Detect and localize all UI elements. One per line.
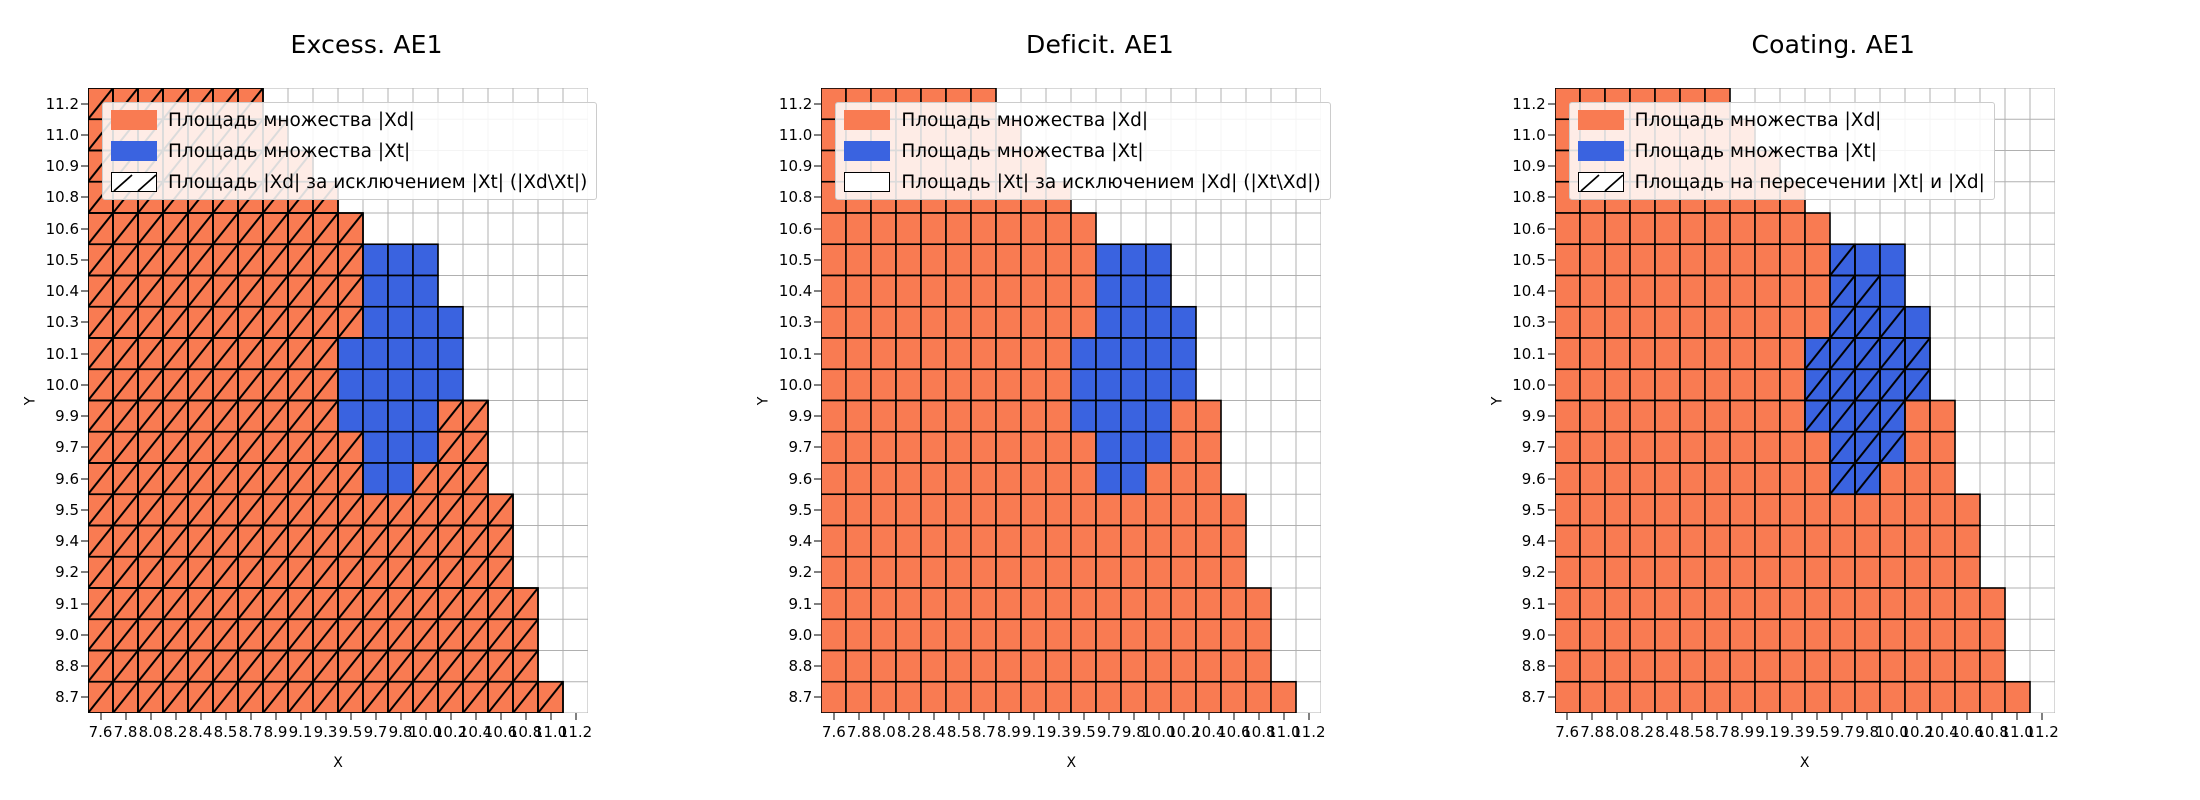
grid-cell xyxy=(1630,369,1655,400)
grid-cell xyxy=(1046,588,1071,619)
grid-cell-hatch xyxy=(213,244,238,275)
grid-cell xyxy=(1630,557,1655,588)
grid-cell xyxy=(1196,588,1221,619)
grid-cell xyxy=(896,651,921,682)
grid-cell-hatch xyxy=(138,338,163,369)
y-tick-label: 11.2 xyxy=(779,95,812,113)
grid-cell-hatch xyxy=(88,307,113,338)
grid-cell-hatch xyxy=(338,307,363,338)
grid-cell xyxy=(388,276,413,307)
grid-cell-hatch xyxy=(88,276,113,307)
grid-cell xyxy=(363,276,388,307)
legend-swatch-hatch xyxy=(1578,172,1624,192)
grid-cell xyxy=(438,369,463,400)
x-tick-mark xyxy=(1667,713,1668,720)
x-tick-mark xyxy=(1942,713,1943,720)
grid-cell xyxy=(821,588,846,619)
plot-area: 11.211.010.910.810.610.510.410.310.110.0… xyxy=(88,88,588,713)
grid-cell xyxy=(1730,307,1755,338)
grid-cell xyxy=(821,244,846,275)
legend-item[interactable]: Площадь множества |Xt| xyxy=(111,141,587,161)
grid-cell-hatch xyxy=(363,557,388,588)
x-tick-label: 8.0 xyxy=(1605,723,1629,741)
grid-cell xyxy=(971,463,996,494)
grid-cell xyxy=(1755,526,1780,557)
grid-cell-hatch xyxy=(88,244,113,275)
x-axis-label: X xyxy=(821,755,1321,771)
grid-cell xyxy=(1096,307,1121,338)
grid-cell xyxy=(1930,526,1955,557)
y-tick-mark xyxy=(814,228,821,229)
grid-cell xyxy=(1930,432,1955,463)
grid-cell xyxy=(871,369,896,400)
grid-cell xyxy=(1555,307,1580,338)
grid-cell xyxy=(1930,588,1955,619)
y-tick-label: 10.4 xyxy=(46,282,79,300)
grid-cell xyxy=(1046,494,1071,525)
x-tick-mark xyxy=(1917,713,1918,720)
x-tick-mark xyxy=(150,713,151,720)
grid-cell xyxy=(896,244,921,275)
grid-cell xyxy=(1730,244,1755,275)
y-tick-label: 9.2 xyxy=(788,563,812,581)
legend-item[interactable]: Площадь множества |Xd| xyxy=(844,110,1320,130)
grid-cell-hatch xyxy=(213,276,238,307)
y-tick-mark xyxy=(81,416,88,417)
x-tick-label: 8.9 xyxy=(997,723,1021,741)
grid-cell xyxy=(1630,276,1655,307)
y-tick-mark xyxy=(1548,634,1555,635)
y-tick-mark xyxy=(81,103,88,104)
x-axis-label: X xyxy=(1555,755,2055,771)
x-tick-mark xyxy=(325,713,326,720)
grid-cell xyxy=(1096,338,1121,369)
y-tick-label: 10.1 xyxy=(46,345,79,363)
grid-cell xyxy=(1630,244,1655,275)
grid-cell-hatch xyxy=(263,494,288,525)
grid-cell-hatch xyxy=(188,494,213,525)
grid-cell-hatch xyxy=(463,494,488,525)
grid-cell-hatch xyxy=(488,557,513,588)
grid-cell xyxy=(1046,682,1071,713)
grid-cell-hatch xyxy=(263,463,288,494)
grid-cell-hatch xyxy=(188,401,213,432)
x-tick-mark xyxy=(200,713,201,720)
x-tick-label: 7.8 xyxy=(847,723,871,741)
grid-cell xyxy=(1680,682,1705,713)
y-tick-label: 11.0 xyxy=(46,126,79,144)
grid-cell xyxy=(871,682,896,713)
grid-cell xyxy=(1705,494,1730,525)
grid-cell xyxy=(1680,557,1705,588)
grid-cell xyxy=(996,307,1021,338)
grid-cell xyxy=(921,307,946,338)
grid-cell xyxy=(996,369,1021,400)
grid-cell xyxy=(1630,588,1655,619)
grid-cell-hatch xyxy=(213,619,238,650)
y-tick-mark xyxy=(81,447,88,448)
grid-cell-hatch xyxy=(213,307,238,338)
grid-cell xyxy=(1580,619,1605,650)
grid-cell xyxy=(1730,588,1755,619)
grid-cell xyxy=(1021,369,1046,400)
grid-cell-hatch xyxy=(138,588,163,619)
x-tick-label: 8.0 xyxy=(139,723,163,741)
x-tick-label: 9.5 xyxy=(1805,723,1829,741)
legend-label: Площадь множества |Xd| xyxy=(1635,110,1882,131)
legend-item[interactable]: Площадь |Xt| за исключением |Xd| (|Xt\Xd… xyxy=(844,172,1320,192)
grid-cell xyxy=(1171,463,1196,494)
grid-cell-hatch xyxy=(438,557,463,588)
grid-cell xyxy=(1780,338,1805,369)
grid-cell-hatch xyxy=(263,276,288,307)
grid-cell-hatch xyxy=(1830,276,1855,307)
y-tick-label: 9.5 xyxy=(55,501,79,519)
grid-cell xyxy=(1705,619,1730,650)
grid-cell xyxy=(1880,557,1905,588)
grid-cell-hatch xyxy=(288,588,313,619)
grid-cell-hatch xyxy=(1855,338,1880,369)
grid-cell xyxy=(388,463,413,494)
grid-cell xyxy=(1755,557,1780,588)
x-tick-mark xyxy=(225,713,226,720)
grid-cell-hatch xyxy=(288,557,313,588)
grid-cell xyxy=(363,401,388,432)
legend-item[interactable]: Площадь на пересечении |Xt| и |Xd| xyxy=(1578,172,1985,192)
grid-cell xyxy=(1146,651,1171,682)
grid-cell xyxy=(946,526,971,557)
grid-cell xyxy=(846,213,871,244)
x-tick-mark xyxy=(833,713,834,720)
legend-item[interactable]: Площадь множества |Xd| xyxy=(1578,110,1985,130)
grid-cell xyxy=(1880,588,1905,619)
grid-cell xyxy=(1605,682,1630,713)
grid-cell xyxy=(996,213,1021,244)
grid-cell-hatch xyxy=(213,588,238,619)
grid-cell xyxy=(1021,619,1046,650)
grid-cell xyxy=(1705,432,1730,463)
grid-cell-hatch xyxy=(213,338,238,369)
grid-cell xyxy=(1805,494,1830,525)
y-tick-mark xyxy=(814,478,821,479)
grid-cell-hatch xyxy=(163,213,188,244)
grid-cell xyxy=(946,213,971,244)
grid-cell-hatch xyxy=(188,369,213,400)
grid-cell xyxy=(1096,369,1121,400)
legend: Площадь множества |Xd|Площадь множества … xyxy=(835,102,1330,200)
grid-cell xyxy=(1705,526,1730,557)
grid-cell xyxy=(1046,338,1071,369)
y-tick-mark xyxy=(1548,572,1555,573)
grid-cell-hatch xyxy=(288,276,313,307)
grid-cell-hatch xyxy=(1830,401,1855,432)
grid-cell xyxy=(821,494,846,525)
y-tick-label: 9.4 xyxy=(788,532,812,550)
y-tick-mark xyxy=(81,322,88,323)
grid-cell-hatch xyxy=(363,526,388,557)
grid-cell xyxy=(1930,557,1955,588)
y-tick-label: 9.7 xyxy=(55,438,79,456)
grid-cell xyxy=(1780,651,1805,682)
grid-cell-hatch xyxy=(238,432,263,463)
x-tick-label: 9.3 xyxy=(1780,723,1804,741)
grid-cell xyxy=(1755,401,1780,432)
y-tick-label: 9.6 xyxy=(1522,470,1546,488)
y-tick-label: 10.9 xyxy=(46,157,79,175)
grid-cell xyxy=(1855,651,1880,682)
x-tick-label: 8.2 xyxy=(897,723,921,741)
grid-cell xyxy=(1605,338,1630,369)
x-tick-mark xyxy=(1158,713,1159,720)
grid-cell-hatch xyxy=(363,682,388,713)
grid-cell xyxy=(1555,369,1580,400)
grid-cell xyxy=(846,307,871,338)
x-tick-mark xyxy=(1233,713,1234,720)
grid-cell xyxy=(871,307,896,338)
grid-cell xyxy=(1855,619,1880,650)
grid-cell xyxy=(871,557,896,588)
grid-cell xyxy=(1071,369,1096,400)
grid-cell-hatch xyxy=(463,588,488,619)
grid-cell xyxy=(996,619,1021,650)
grid-cell xyxy=(921,619,946,650)
grid-cell-hatch xyxy=(163,557,188,588)
grid-cell xyxy=(1655,401,1680,432)
grid-cell-hatch xyxy=(113,244,138,275)
grid-cell xyxy=(1555,338,1580,369)
x-tick-mark xyxy=(400,713,401,720)
grid-cell-hatch xyxy=(1905,369,1930,400)
y-tick-mark xyxy=(1548,134,1555,135)
grid-cell xyxy=(846,276,871,307)
grid-cell xyxy=(1730,494,1755,525)
y-tick-label: 8.7 xyxy=(1522,688,1546,706)
y-tick-label: 10.3 xyxy=(1512,313,1545,331)
grid-cell xyxy=(946,651,971,682)
grid-cell-hatch xyxy=(488,526,513,557)
grid-cell xyxy=(921,401,946,432)
grid-cell xyxy=(1730,338,1755,369)
grid-cell xyxy=(1605,557,1630,588)
legend-label: Площадь множества |Xt| xyxy=(168,141,410,162)
grid-cell xyxy=(1021,432,1046,463)
grid-cell-hatch xyxy=(413,588,438,619)
legend-item[interactable]: Площадь |Xd| за исключением |Xt| (|Xd\Xt… xyxy=(111,172,587,192)
y-tick-mark xyxy=(814,166,821,167)
grid-cell-hatch xyxy=(88,401,113,432)
grid-cell xyxy=(971,369,996,400)
grid-cell-hatch xyxy=(313,338,338,369)
grid-cell xyxy=(338,338,363,369)
legend-item[interactable]: Площадь множества |Xd| xyxy=(111,110,587,130)
grid-cell xyxy=(996,682,1021,713)
grid-cell-hatch xyxy=(413,463,438,494)
grid-cell-hatch xyxy=(163,651,188,682)
grid-cell xyxy=(1021,682,1046,713)
grid-cell-hatch xyxy=(438,651,463,682)
grid-cell xyxy=(1196,401,1221,432)
grid-cell-hatch xyxy=(213,213,238,244)
grid-cell-hatch xyxy=(438,463,463,494)
y-tick-label: 10.4 xyxy=(1512,282,1545,300)
grid-cell xyxy=(1905,463,1930,494)
panel-title: Excess. AE1 xyxy=(0,30,733,59)
grid-cell xyxy=(438,307,463,338)
x-tick-mark xyxy=(1592,713,1593,720)
grid-cell xyxy=(363,369,388,400)
grid-cell xyxy=(971,244,996,275)
grid-cell xyxy=(946,276,971,307)
y-tick-label: 9.4 xyxy=(55,532,79,550)
grid-cell-hatch xyxy=(188,213,213,244)
grid-cell xyxy=(1730,682,1755,713)
y-tick-label: 9.1 xyxy=(1522,595,1546,613)
grid-cell-hatch xyxy=(238,494,263,525)
grid-cell xyxy=(1705,338,1730,369)
x-tick-mark xyxy=(1133,713,1134,720)
grid-cell-hatch xyxy=(488,682,513,713)
x-tick-mark xyxy=(575,713,576,720)
grid-cell xyxy=(1930,682,1955,713)
y-tick-label: 10.5 xyxy=(779,251,812,269)
x-tick-mark xyxy=(958,713,959,720)
y-tick-label: 11.2 xyxy=(46,95,79,113)
grid-cell xyxy=(1096,276,1121,307)
x-tick-mark xyxy=(450,713,451,720)
grid-cell-hatch xyxy=(513,682,538,713)
grid-cell-hatch xyxy=(1805,338,1830,369)
grid-cell xyxy=(971,338,996,369)
y-tick-mark xyxy=(1548,166,1555,167)
grid-cell-hatch xyxy=(413,619,438,650)
grid-cell-hatch xyxy=(1880,369,1905,400)
grid-cell-hatch xyxy=(538,682,563,713)
x-tick-mark xyxy=(1792,713,1793,720)
grid-cell xyxy=(946,619,971,650)
grid-cell xyxy=(871,432,896,463)
x-tick-mark xyxy=(300,713,301,720)
y-tick-label: 10.9 xyxy=(779,157,812,175)
y-tick-label: 10.8 xyxy=(46,188,79,206)
grid-cell-hatch xyxy=(1830,463,1855,494)
grid-cell-hatch xyxy=(263,682,288,713)
x-tick-mark xyxy=(525,713,526,720)
y-tick-mark xyxy=(81,197,88,198)
grid-cell xyxy=(1171,401,1196,432)
grid-cell xyxy=(1980,588,2005,619)
grid-cell xyxy=(1021,526,1046,557)
x-tick-mark xyxy=(858,713,859,720)
legend-item[interactable]: Площадь множества |Xt| xyxy=(1578,141,1985,161)
x-tick-label: 7.8 xyxy=(114,723,138,741)
grid-cell xyxy=(1580,557,1605,588)
grid-cell xyxy=(1171,619,1196,650)
grid-cell xyxy=(1655,213,1680,244)
x-tick-label: 8.2 xyxy=(164,723,188,741)
grid-cell-hatch xyxy=(288,307,313,338)
grid-cell-hatch xyxy=(163,432,188,463)
x-tick-mark xyxy=(1308,713,1309,720)
legend: Площадь множества |Xd|Площадь множества … xyxy=(1569,102,1995,200)
grid-cell-hatch xyxy=(138,401,163,432)
grid-cell xyxy=(1655,338,1680,369)
grid-cell-hatch xyxy=(238,682,263,713)
grid-cell xyxy=(1730,619,1755,650)
y-tick-label: 10.8 xyxy=(779,188,812,206)
grid-cell xyxy=(1630,401,1655,432)
grid-cell xyxy=(1905,588,1930,619)
grid-cell-hatch xyxy=(163,244,188,275)
y-tick-label: 10.1 xyxy=(779,345,812,363)
panel-title: Deficit. AE1 xyxy=(733,30,1466,59)
grid-cell xyxy=(1171,557,1196,588)
grid-cell xyxy=(1071,307,1096,338)
y-tick-mark xyxy=(814,291,821,292)
grid-cell xyxy=(1930,401,1955,432)
grid-cell-hatch xyxy=(88,557,113,588)
x-tick-mark xyxy=(1108,713,1109,720)
grid-cell xyxy=(1605,276,1630,307)
y-tick-label: 8.8 xyxy=(55,657,79,675)
grid-cell-hatch xyxy=(363,588,388,619)
grid-cell xyxy=(1680,526,1705,557)
grid-cell xyxy=(996,651,1021,682)
grid-cell-hatch xyxy=(163,307,188,338)
grid-cell xyxy=(1121,651,1146,682)
grid-cell xyxy=(1146,401,1171,432)
grid-cell xyxy=(1605,463,1630,494)
grid-cell xyxy=(388,401,413,432)
grid-cell-hatch xyxy=(313,307,338,338)
y-tick-label: 9.0 xyxy=(1522,626,1546,644)
x-tick-mark xyxy=(1283,713,1284,720)
grid-cell-hatch xyxy=(288,651,313,682)
grid-cell-hatch xyxy=(138,494,163,525)
grid-cell-hatch xyxy=(213,682,238,713)
x-tick-mark xyxy=(983,713,984,720)
grid-cell-hatch xyxy=(138,213,163,244)
y-tick-label: 10.6 xyxy=(46,220,79,238)
grid-cell xyxy=(1171,307,1196,338)
grid-cell xyxy=(1605,369,1630,400)
legend-item[interactable]: Площадь множества |Xt| xyxy=(844,141,1320,161)
legend-swatch-hatch xyxy=(111,172,157,192)
grid-cell xyxy=(1555,244,1580,275)
grid-cell-hatch xyxy=(388,651,413,682)
x-tick-mark xyxy=(125,713,126,720)
grid-cell xyxy=(1580,682,1605,713)
grid-cell-hatch xyxy=(338,682,363,713)
y-tick-label: 9.6 xyxy=(788,470,812,488)
grid-cell xyxy=(1221,588,1246,619)
grid-cell-hatch xyxy=(163,619,188,650)
y-tick-mark xyxy=(81,541,88,542)
grid-cell xyxy=(1780,557,1805,588)
grid-cell xyxy=(821,307,846,338)
grid-cell xyxy=(921,651,946,682)
grid-cell-hatch xyxy=(238,213,263,244)
x-tick-mark xyxy=(1692,713,1693,720)
y-tick-mark xyxy=(1548,697,1555,698)
grid-cell-hatch xyxy=(438,619,463,650)
grid-cell-hatch xyxy=(163,494,188,525)
grid-cell-hatch xyxy=(288,213,313,244)
legend-swatch-xd xyxy=(111,110,157,130)
y-tick-label: 10.0 xyxy=(1512,376,1545,394)
x-tick-mark xyxy=(1083,713,1084,720)
grid-cell xyxy=(1071,619,1096,650)
grid-cell-hatch xyxy=(288,619,313,650)
